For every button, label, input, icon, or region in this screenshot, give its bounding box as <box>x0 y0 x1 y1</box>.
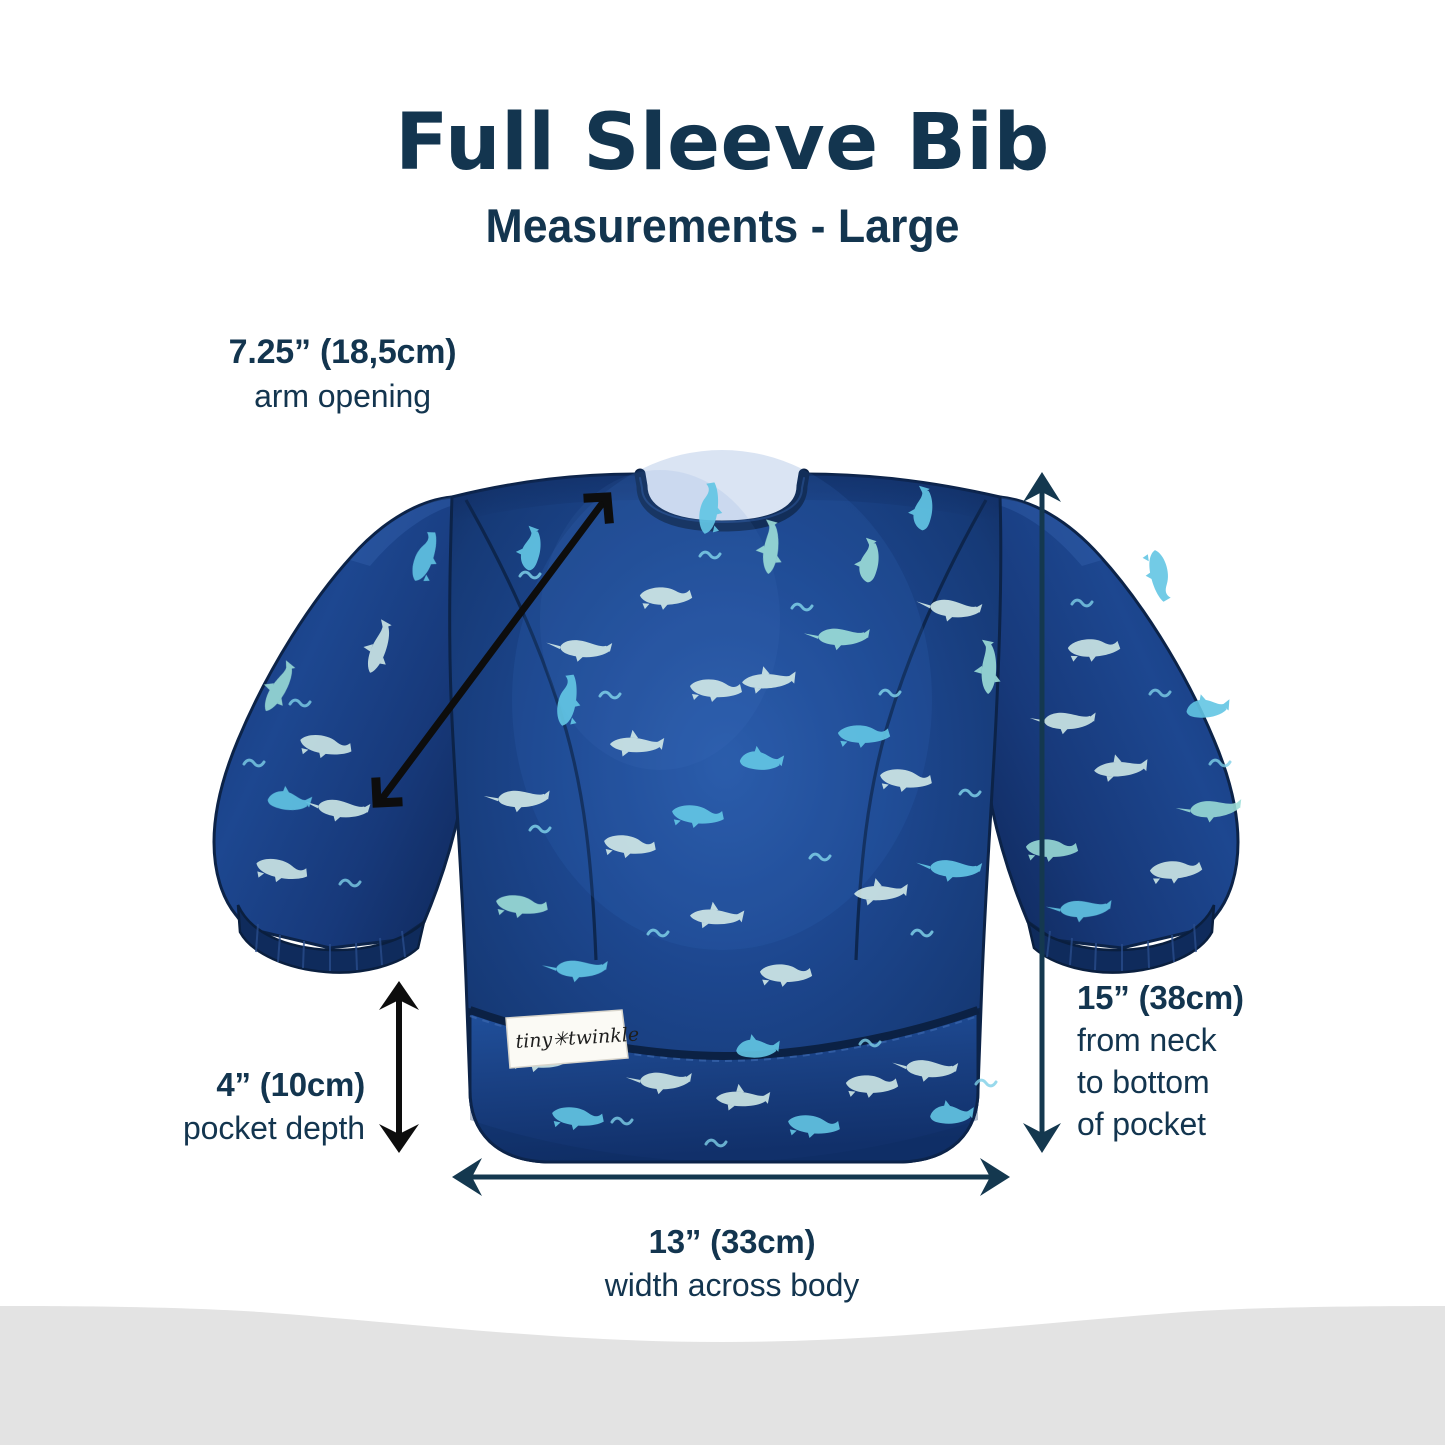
measurement-pocket-depth: 4” (10cm) pocket depth <box>80 1065 365 1148</box>
neck-to-pocket-line-2: to bottom <box>1077 1063 1397 1102</box>
pocket-depth-description: pocket depth <box>80 1109 365 1148</box>
brand-tag: tiny✳twinkle <box>506 1010 640 1068</box>
measurement-width-across-body: 13” (33cm) width across body <box>452 1222 1012 1305</box>
measurement-arm-opening: 7.25” (18,5cm) arm opening <box>205 332 480 417</box>
infographic-canvas: Full Sleeve Bib Measurements - Large <box>0 0 1445 1445</box>
width-value: 13” (33cm) <box>452 1222 1012 1262</box>
arm-opening-description: arm opening <box>205 377 480 416</box>
bottom-decorative-band <box>0 1306 1445 1445</box>
width-arrow <box>452 1158 1010 1196</box>
width-description: width across body <box>452 1266 1012 1305</box>
pocket-depth-arrow <box>379 981 419 1153</box>
neck-to-pocket-line-3: of pocket <box>1077 1105 1397 1144</box>
arm-opening-value: 7.25” (18,5cm) <box>205 332 480 373</box>
neck-to-pocket-line-1: from neck <box>1077 1021 1397 1060</box>
pocket-depth-value: 4” (10cm) <box>80 1065 365 1105</box>
measurement-neck-to-pocket: 15” (38cm) from neck to bottom of pocket <box>1077 978 1397 1144</box>
neck-to-pocket-value: 15” (38cm) <box>1077 978 1397 1018</box>
